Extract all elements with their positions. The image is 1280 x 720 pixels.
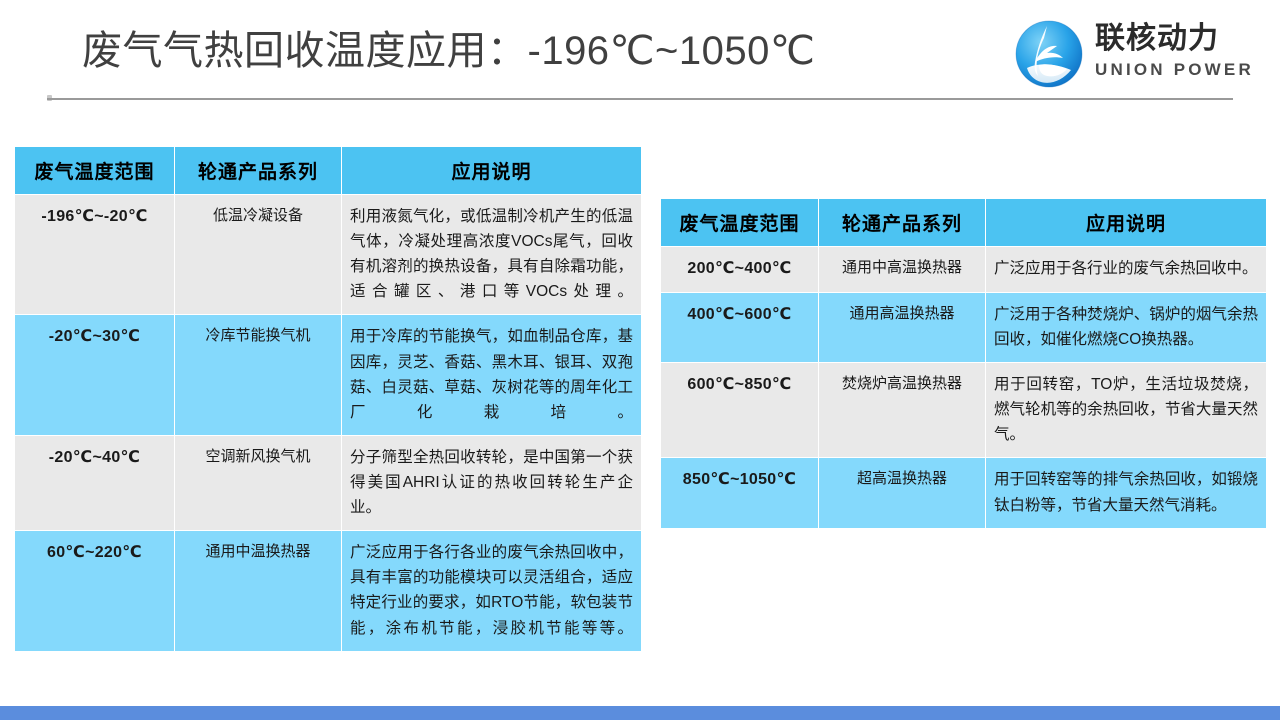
temperature-application-table-left: 废气温度范围 轮通产品系列 应用说明 -196℃~-20℃ 低温冷凝设备 利用液… (14, 146, 642, 652)
cell-product-line: 低温冷凝设备 (175, 195, 341, 314)
company-logo: 联核动力 UNION POWER (1013, 18, 1263, 92)
cell-application: 用于回转窑等的排气余热回收，如锻烧钛白粉等，节省大量天然气消耗。 (986, 458, 1266, 527)
column-header-product-line: 轮通产品系列 (175, 147, 341, 194)
table-row: -196℃~-20℃ 低温冷凝设备 利用液氮气化，或低温制冷机产生的低温气体，冷… (15, 195, 641, 314)
column-header-temp-range: 废气温度范围 (661, 199, 818, 246)
cell-temp-range: 850℃~1050℃ (661, 458, 818, 527)
cell-application: 广泛应用于各行业的废气余热回收中。 (986, 247, 1266, 292)
cell-product-line: 通用高温换热器 (819, 293, 985, 362)
bottom-accent-bar (0, 706, 1280, 720)
table-row: -20℃~40℃ 空调新风换气机 分子筛型全热回收转轮，是中国第一个获得美国AH… (15, 436, 641, 530)
cell-temp-range: 600℃~850℃ (661, 363, 818, 457)
cell-application: 分子筛型全热回收转轮，是中国第一个获得美国AHRI认证的热收回转轮生产企业。 (342, 436, 641, 530)
temperature-application-table-right: 废气温度范围 轮通产品系列 应用说明 200℃~400℃ 通用中高温换热器 广泛… (660, 198, 1267, 529)
cell-product-line: 空调新风换气机 (175, 436, 341, 530)
cell-application: 广泛应用于各行各业的废气余热回收中，具有丰富的功能模块可以灵活组合，适应特定行业… (342, 531, 641, 650)
table-row: 200℃~400℃ 通用中高温换热器 广泛应用于各行业的废气余热回收中。 (661, 247, 1266, 292)
slide-canvas: 废气气热回收温度应用：-196℃~1050℃ (0, 0, 1280, 720)
cell-product-line: 冷库节能换气机 (175, 315, 341, 434)
table-row: 60℃~220℃ 通用中温换热器 广泛应用于各行各业的废气余热回收中，具有丰富的… (15, 531, 641, 650)
column-header-application: 应用说明 (342, 147, 641, 194)
table-row: 850℃~1050℃ 超高温换热器 用于回转窑等的排气余热回收，如锻烧钛白粉等，… (661, 458, 1266, 527)
page-title: 废气气热回收温度应用：-196℃~1050℃ (82, 24, 815, 78)
column-header-product-line: 轮通产品系列 (819, 199, 985, 246)
cell-temp-range: -196℃~-20℃ (15, 195, 174, 314)
cell-temp-range: 400℃~600℃ (661, 293, 818, 362)
table-header-row: 废气温度范围 轮通产品系列 应用说明 (661, 199, 1266, 246)
cell-temp-range: 60℃~220℃ (15, 531, 174, 650)
table-row: 600℃~850℃ 焚烧炉高温换热器 用于回转窑，TO炉，生活垃圾焚烧，燃气轮机… (661, 363, 1266, 457)
cell-product-line: 通用中高温换热器 (819, 247, 985, 292)
cell-application: 广泛用于各种焚烧炉、锅炉的烟气余热回收，如催化燃烧CO换热器。 (986, 293, 1266, 362)
logo-text-block: 联核动力 UNION POWER (1095, 22, 1265, 81)
logo-english-name: UNION POWER (1095, 59, 1265, 81)
cell-temp-range: -20℃~40℃ (15, 436, 174, 530)
column-header-application: 应用说明 (986, 199, 1266, 246)
blue-globe-bird-logo-icon (1013, 18, 1085, 90)
cell-product-line: 通用中温换热器 (175, 531, 341, 650)
cell-application: 用于冷库的节能换气，如血制品仓库，基因库，灵芝、香菇、黑木耳、银耳、双孢菇、白灵… (342, 315, 641, 434)
cell-product-line: 焚烧炉高温换热器 (819, 363, 985, 457)
slide-header: 废气气热回收温度应用：-196℃~1050℃ (0, 0, 1280, 100)
cell-temp-range: 200℃~400℃ (661, 247, 818, 292)
title-divider (47, 98, 1233, 100)
table-row: -20℃~30℃ 冷库节能换气机 用于冷库的节能换气，如血制品仓库，基因库，灵芝… (15, 315, 641, 434)
table-row: 400℃~600℃ 通用高温换热器 广泛用于各种焚烧炉、锅炉的烟气余热回收，如催… (661, 293, 1266, 362)
cell-temp-range: -20℃~30℃ (15, 315, 174, 434)
cell-application: 用于回转窑，TO炉，生活垃圾焚烧，燃气轮机等的余热回收，节省大量天然气。 (986, 363, 1266, 457)
logo-chinese-name: 联核动力 (1095, 22, 1265, 56)
column-header-temp-range: 废气温度范围 (15, 147, 174, 194)
cell-application: 利用液氮气化，或低温制冷机产生的低温气体，冷凝处理高浓度VOCs尾气，回收有机溶… (342, 195, 641, 314)
cell-product-line: 超高温换热器 (819, 458, 985, 527)
table-header-row: 废气温度范围 轮通产品系列 应用说明 (15, 147, 641, 194)
